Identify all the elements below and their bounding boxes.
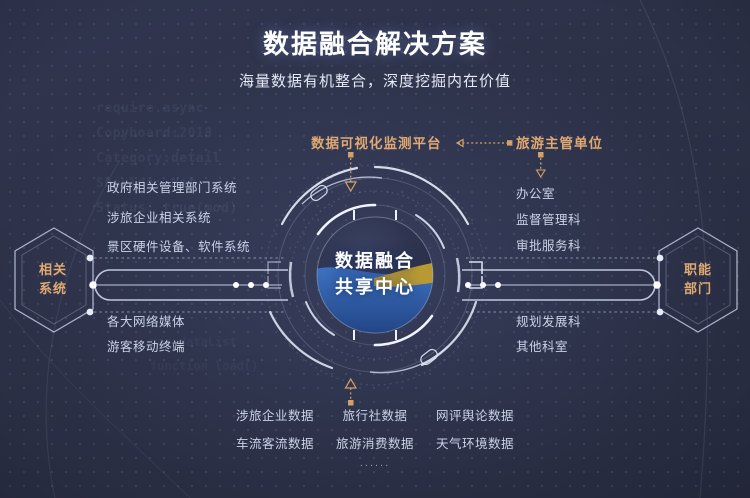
bottom-row-0: 涉旅企业数据 旅行社数据 网评舆论数据 (225, 405, 525, 424)
infographic-canvas: require.async Copyboard:2018 Category:de… (0, 0, 750, 498)
bottom-cell-0-1: 旅行社数据 (325, 405, 425, 424)
left-item-4: 游客移动终端 (107, 336, 185, 355)
left-item-2: 景区硬件设备、软件系统 (107, 236, 250, 255)
core-ring-graphic (262, 162, 488, 388)
bottom-ellipsis: ...... (225, 457, 525, 469)
left-item-0: 政府相关管理部门系统 (107, 177, 237, 196)
connector-authority-down (528, 152, 554, 182)
left-item-1: 涉旅企业相关系统 (107, 207, 211, 226)
bottom-cell-0-0: 涉旅企业数据 (225, 405, 325, 424)
right-item-3: 规划发展科 (516, 311, 581, 330)
right-item-2: 审批服务科 (516, 235, 581, 254)
bottom-cell-0-2: 网评舆论数据 (425, 405, 525, 424)
bottom-row-1: 车流客流数据 旅游消费数据 天气环境数据 (225, 433, 525, 452)
right-item-4: 其他科室 (516, 336, 568, 355)
hexagon-right-label: 职能部门 (663, 260, 733, 298)
bottom-cell-1-2: 天气环境数据 (425, 433, 525, 452)
label-tourism-authority: 旅游主管单位 (516, 132, 603, 152)
right-item-0: 办公室 (516, 183, 555, 202)
left-item-3: 各大网络媒体 (107, 311, 185, 330)
bottom-cell-1-1: 旅游消费数据 (325, 433, 425, 452)
bottom-data-grid: 涉旅企业数据 旅行社数据 网评舆论数据 车流客流数据 旅游消费数据 天气环境数据… (225, 405, 525, 461)
right-item-1: 监督管理科 (516, 209, 581, 228)
hexagon-left-label: 相关系统 (18, 260, 88, 298)
dotted-left-arrow-icon (448, 137, 514, 149)
bottom-cell-1-0: 车流客流数据 (225, 433, 325, 452)
label-visualization-platform: 数据可视化监测平台 (311, 132, 442, 152)
page-subtitle: 海量数据有机整合，深度挖掘内在价值 (0, 70, 750, 91)
page-title: 数据融合解决方案 (0, 24, 750, 61)
